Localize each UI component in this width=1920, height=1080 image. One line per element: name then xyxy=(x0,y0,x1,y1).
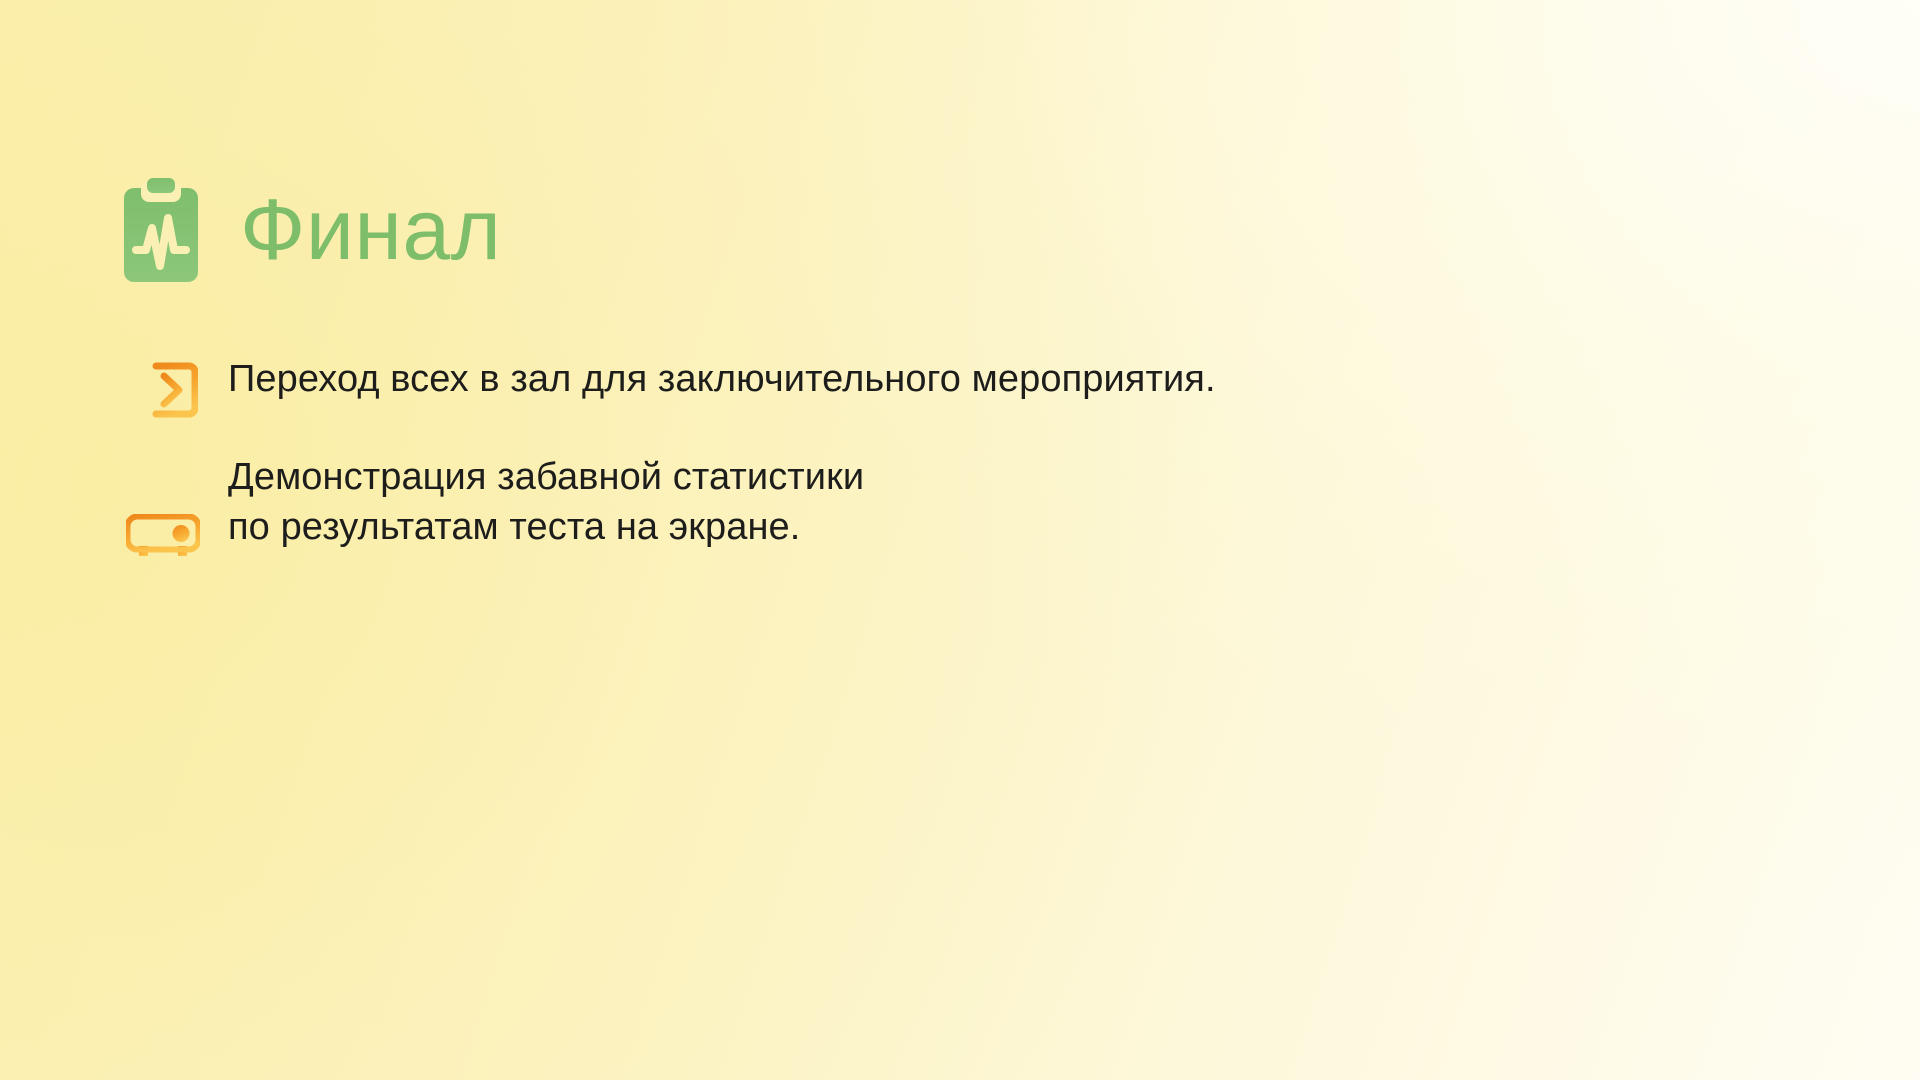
bullet-list: Переход всех в зал для заключительного м… xyxy=(124,352,1574,574)
bullet-line: Переход всех в зал для заключительного м… xyxy=(228,354,1216,404)
bullet-icon-slot xyxy=(124,450,228,574)
bullet-icon-slot xyxy=(124,352,228,414)
login-enter-arrow-icon xyxy=(126,361,198,419)
bullet-line: Демонстрация забавной статистики xyxy=(228,452,864,502)
list-item: Демонстрация забавной статистики по резу… xyxy=(124,450,1574,574)
list-item: Переход всех в зал для заключительного м… xyxy=(124,352,1574,414)
slide-header: Финал xyxy=(124,178,501,282)
page-title: Финал xyxy=(240,187,501,273)
bullet-text: Демонстрация забавной статистики по резу… xyxy=(228,450,864,552)
bullet-text: Переход всех в зал для заключительного м… xyxy=(228,352,1216,404)
slide-canvas: Финал xyxy=(0,0,1920,1080)
clipboard-pulse-icon xyxy=(124,178,198,282)
projector-icon xyxy=(126,514,200,562)
bullet-line: по результатам теста на экране. xyxy=(228,502,864,552)
